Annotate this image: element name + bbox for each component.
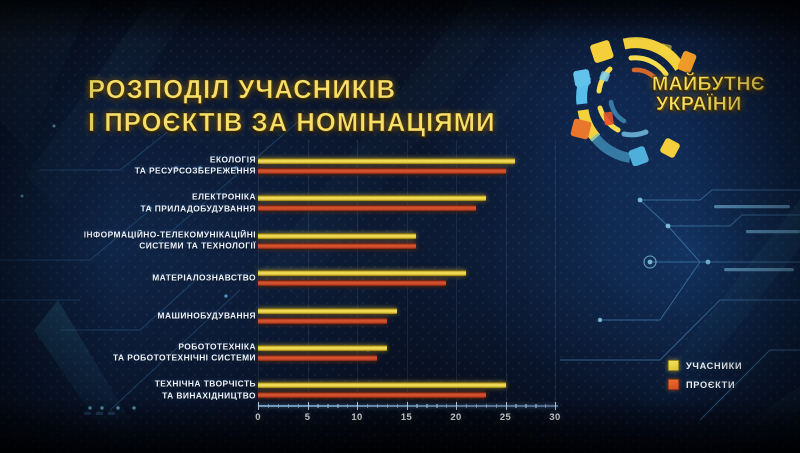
axis-tick-minor: [377, 404, 378, 408]
axis-tick-major: [456, 402, 457, 410]
bar-projects[interactable]: [258, 355, 377, 361]
axis-tick-minor: [317, 404, 318, 408]
bar-group: [258, 382, 506, 398]
category-label: РОБОТОТЕХНІКАТА РОБОТОТЕХНІЧНІ СИСТЕМИ: [0, 342, 256, 365]
bar-projects[interactable]: [258, 243, 416, 249]
axis-tick-minor: [397, 404, 398, 408]
infographic-slide: РОЗПОДІЛ УЧАСНИКІВ І ПРОЄКТІВ ЗА НОМІНАЦ…: [0, 0, 800, 453]
axis-tick-major: [555, 402, 556, 410]
axis-tick-label: 10: [351, 411, 362, 422]
axis-tick-major: [506, 402, 507, 410]
axis-tick-label: 5: [305, 411, 311, 422]
logo-maybutne-ukrainy: МАЙБУТНЄ УКРАЇНИ: [540, 26, 780, 166]
category-label-line: ТА РОБОТОТЕХНІЧНІ СИСТЕМИ: [0, 353, 256, 364]
chart-row: ЕКОЛОГІЯТА РЕСУРСОЗБЕРЕЖЕННЯ: [0, 150, 560, 182]
axis-tick-major: [258, 402, 259, 410]
logo-text: МАЙБУТНЄ УКРАЇНИ: [652, 74, 780, 115]
axis-tick-minor: [268, 404, 269, 408]
category-label-line: ІНФОРМАЦІЙНО-ТЕЛЕКОМУНІКАЦІЙНІ: [0, 229, 256, 240]
axis-tick-minor: [466, 404, 467, 408]
bar-participants[interactable]: [258, 158, 515, 164]
title-line-1: РОЗПОДІЛ УЧАСНИКІВ: [88, 76, 396, 104]
x-axis: 051015202530: [258, 402, 568, 428]
category-label: МАТЕРІАЛОЗНАВСТВО: [0, 273, 256, 284]
category-label: ІНФОРМАЦІЙНО-ТЕЛЕКОМУНІКАЦІЙНІСИСТЕМИ ТА…: [0, 229, 256, 252]
axis-tick-minor: [347, 404, 348, 408]
axis-tick-minor: [436, 404, 437, 408]
axis-tick-label: 20: [450, 411, 461, 422]
bar-group: [258, 308, 397, 324]
axis-tick-major: [357, 402, 358, 410]
axis-tick-minor: [416, 404, 417, 408]
axis-tick-minor: [446, 404, 447, 408]
axis-tick-label: 25: [500, 411, 511, 422]
axis-tick-minor: [525, 404, 526, 408]
legend-label: ПРОЄКТИ: [686, 380, 735, 390]
legend-label: УЧАСНИКИ: [686, 361, 742, 371]
bar-participants[interactable]: [258, 233, 416, 239]
bar-participants[interactable]: [258, 195, 486, 201]
axis-tick-label: 15: [401, 411, 412, 422]
page-title: РОЗПОДІЛ УЧАСНИКІВ І ПРОЄКТІВ ЗА НОМІНАЦ…: [88, 74, 548, 139]
logo-line-2: УКРАЇНИ: [652, 94, 780, 114]
axis-tick-minor: [496, 404, 497, 408]
category-label-line: ТЕХНІЧНА ТВОРЧІСТЬ: [0, 379, 256, 390]
chart-row: ЕЛЕКТРОНІКАТА ПРИЛАДОБУДУВАННЯ: [0, 187, 560, 219]
axis-tick-label: 0: [255, 411, 261, 422]
bar-participants[interactable]: [258, 382, 506, 388]
legend-item-projects[interactable]: ПРОЄКТИ: [668, 377, 742, 392]
chart-row: ІНФОРМАЦІЙНО-ТЕЛЕКОМУНІКАЦІЙНІСИСТЕМИ ТА…: [0, 225, 560, 257]
bar-group: [258, 345, 387, 361]
bar-participants[interactable]: [258, 345, 387, 351]
axis-tick-minor: [298, 404, 299, 408]
axis-tick-minor: [288, 404, 289, 408]
category-label-line: ТА ВИНАХІДНИЦТВО: [0, 390, 256, 401]
category-label-line: МАШИНОБУДУВАННЯ: [0, 310, 256, 321]
bar-group: [258, 158, 515, 174]
category-label: ТЕХНІЧНА ТВОРЧІСТЬТА ВИНАХІДНИЦТВО: [0, 379, 256, 402]
axis-tick-minor: [426, 404, 427, 408]
axis-tick-minor: [337, 404, 338, 408]
bar-projects[interactable]: [258, 280, 446, 286]
axis-tick-minor: [278, 404, 279, 408]
category-label-line: ЕКОЛОГІЯ: [0, 155, 256, 166]
category-label: ЕЛЕКТРОНІКАТА ПРИЛАДОБУДУВАННЯ: [0, 192, 256, 215]
bar-group: [258, 195, 486, 211]
bar-participants[interactable]: [258, 308, 397, 314]
axis-tick-minor: [367, 404, 368, 408]
chart-row: РОБОТОТЕХНІКАТА РОБОТОТЕХНІЧНІ СИСТЕМИ: [0, 337, 560, 369]
category-label-line: ТА ПРИЛАДОБУДУВАННЯ: [0, 203, 256, 214]
category-label-line: ТА РЕСУРСОЗБЕРЕЖЕННЯ: [0, 166, 256, 177]
axis-line: [258, 405, 558, 407]
legend-swatch-projects: [668, 379, 679, 390]
bar-projects[interactable]: [258, 168, 506, 174]
axis-tick-minor: [327, 404, 328, 408]
legend-item-participants[interactable]: УЧАСНИКИ: [668, 358, 742, 373]
category-label: ЕКОЛОГІЯТА РЕСУРСОЗБЕРЕЖЕННЯ: [0, 155, 256, 178]
axis-tick-minor: [515, 404, 516, 408]
chart-row: МАШИНОБУДУВАННЯ: [0, 300, 560, 332]
category-label-line: СИСТЕМИ ТА ТЕХНОЛОГІЇ: [0, 241, 256, 252]
axis-tick-major: [308, 402, 309, 410]
category-label: МАШИНОБУДУВАННЯ: [0, 310, 256, 321]
chart-legend: УЧАСНИКИПРОЄКТИ: [668, 358, 742, 396]
category-label-line: ЕЛЕКТРОНІКА: [0, 192, 256, 203]
category-label-line: РОБОТОТЕХНІКА: [0, 342, 256, 353]
bar-projects[interactable]: [258, 392, 486, 398]
bar-projects[interactable]: [258, 318, 387, 324]
axis-tick-minor: [387, 404, 388, 408]
chart-row: МАТЕРІАЛОЗНАВСТВО: [0, 262, 560, 294]
bar-group: [258, 233, 416, 249]
axis-tick-major: [407, 402, 408, 410]
axis-tick-minor: [535, 404, 536, 408]
bar-chart: ЕКОЛОГІЯТА РЕСУРСОЗБЕРЕЖЕННЯЕЛЕКТРОНІКАТ…: [0, 140, 560, 410]
logo-line-1: МАЙБУТНЄ: [652, 74, 780, 94]
bar-participants[interactable]: [258, 270, 466, 276]
axis-tick-minor: [476, 404, 477, 408]
bar-group: [258, 270, 466, 286]
axis-tick-minor: [486, 404, 487, 408]
title-line-2: І ПРОЄКТІВ ЗА НОМІНАЦІЯМИ: [88, 107, 548, 140]
legend-swatch-participants: [668, 360, 679, 371]
axis-tick-label: 30: [549, 411, 560, 422]
axis-tick-minor: [545, 404, 546, 408]
category-label-line: МАТЕРІАЛОЗНАВСТВО: [0, 273, 256, 284]
bar-projects[interactable]: [258, 205, 476, 211]
